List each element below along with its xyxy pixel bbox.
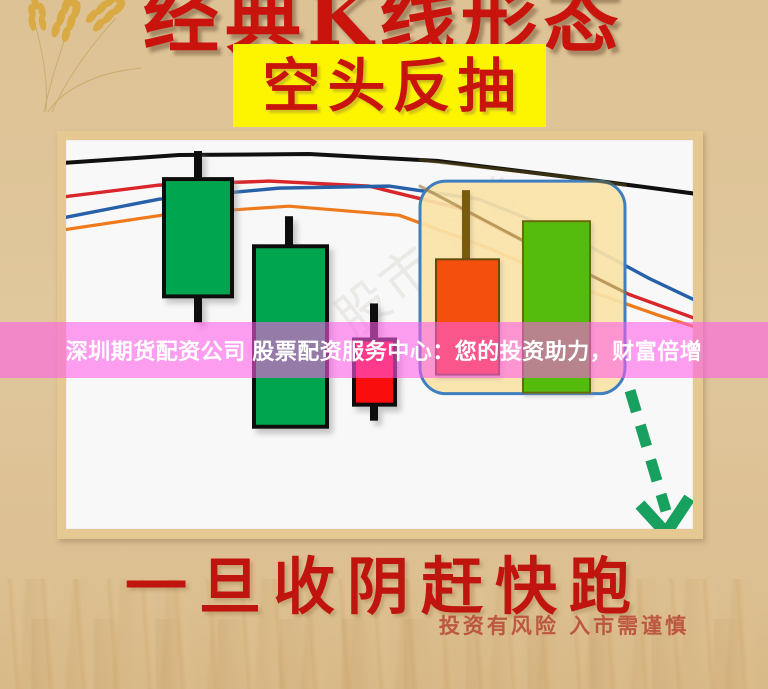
candle-1 <box>164 151 232 322</box>
promo-overlay-bar[interactable]: 深圳期货配资公司 股票配资服务中心：您的投资助力，财富倍增 <box>0 322 768 378</box>
risk-disclaimer: 投资有风险 入市需谨慎 <box>0 610 768 640</box>
poster-root: 经典K线形态 空头反抽 股市论道 <box>0 0 768 689</box>
pattern-name-banner: 空头反抽 <box>233 44 546 127</box>
down-trend-arrow <box>630 391 666 511</box>
promo-overlay-text: 深圳期货配资公司 股票配资服务中心：您的投资助力，财富倍增 <box>0 334 768 366</box>
pattern-name-text: 空头反抽 <box>256 57 522 115</box>
